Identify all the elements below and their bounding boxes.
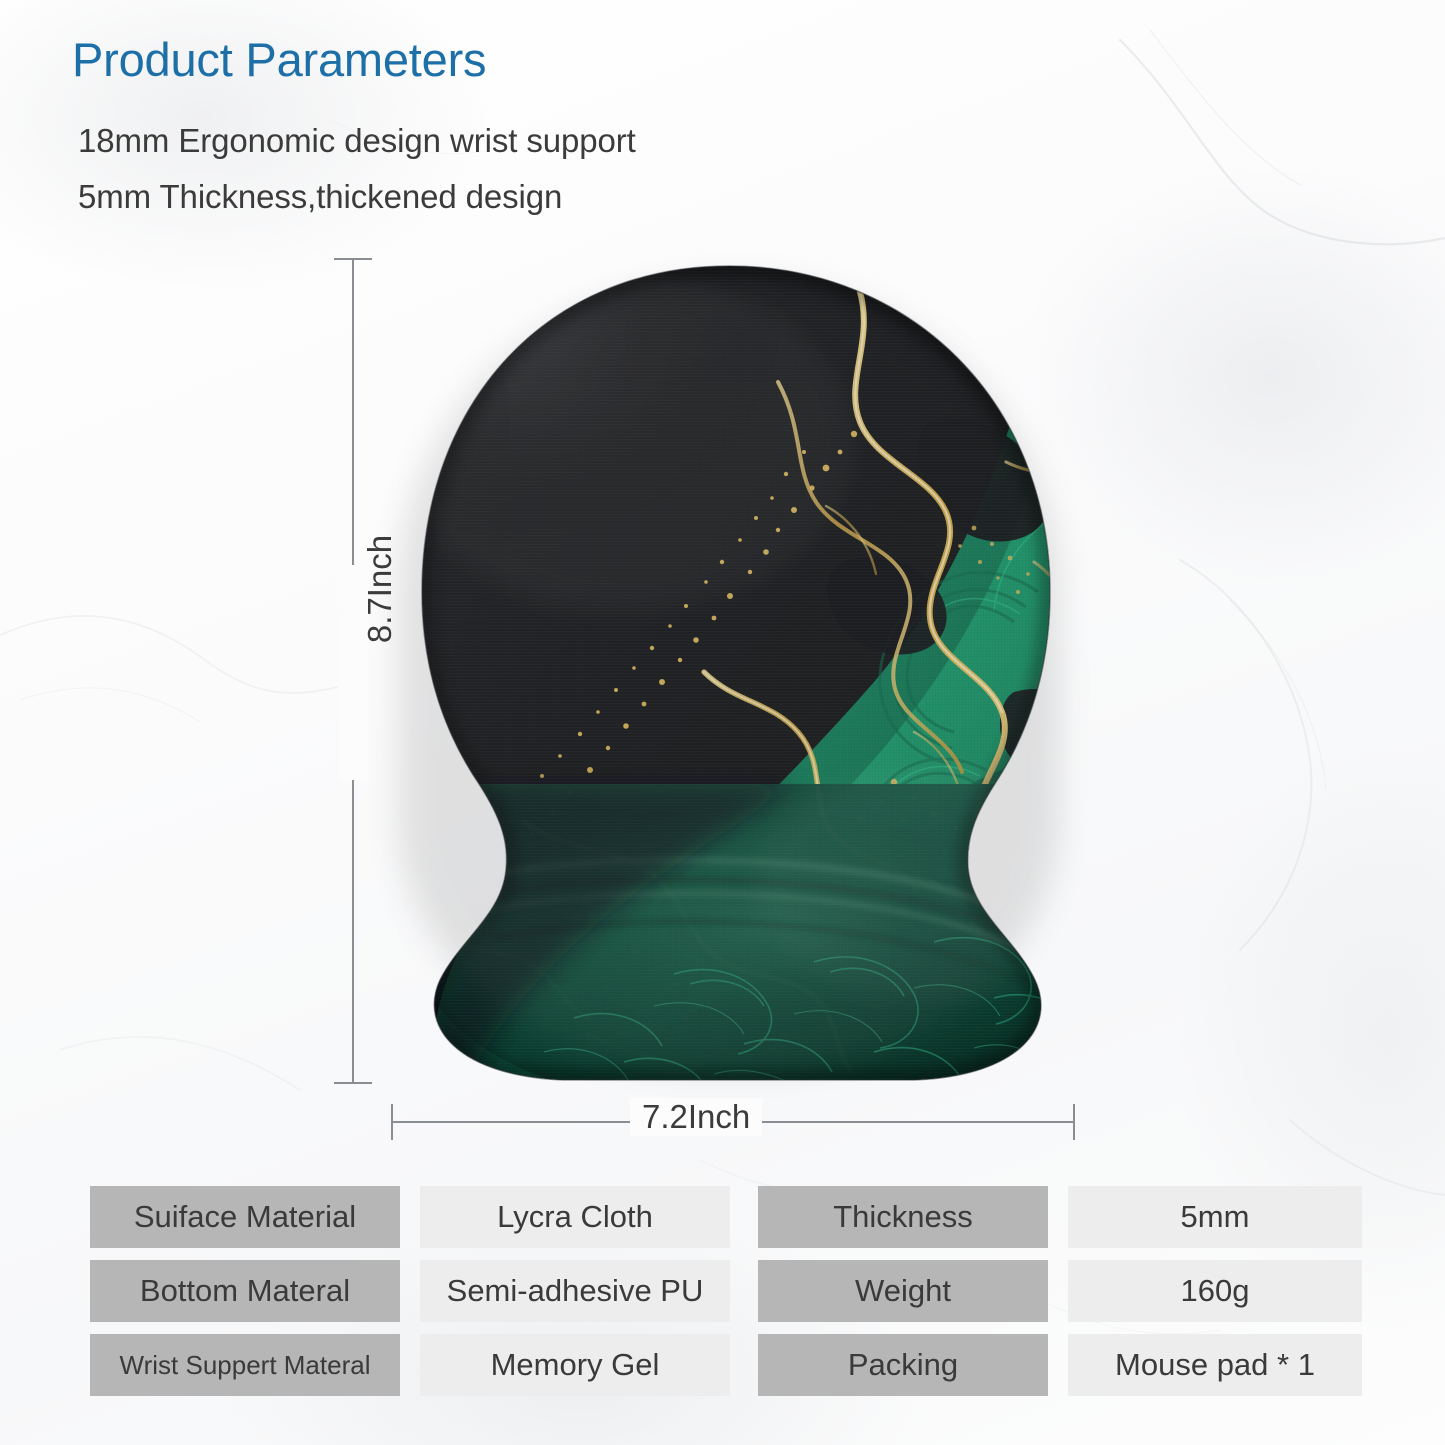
spec-key-bottom-material: Bottom Materal — [90, 1260, 400, 1322]
spec-key-thickness: Thickness — [758, 1186, 1048, 1248]
spec-key-surface-material: Suiface Material — [90, 1186, 400, 1248]
height-dimension-tick-bottom — [334, 1082, 372, 1084]
spec-value-weight: 160g — [1068, 1260, 1362, 1322]
width-dimension-label: 7.2Inch — [630, 1098, 762, 1136]
spec-value-surface-material: Lycra Cloth — [420, 1186, 730, 1248]
spec-table: Suiface Material Lycra Cloth Thickness 5… — [90, 1186, 1362, 1396]
feature-line-2: 5mm Thickness,thickened design — [78, 178, 562, 216]
spec-key-wrist-support-material: Wrist Suppert Materal — [90, 1334, 400, 1396]
spec-value-thickness: 5mm — [1068, 1186, 1362, 1248]
table-row: Suiface Material Lycra Cloth Thickness 5… — [90, 1186, 1362, 1248]
spec-value-bottom-material: Semi-adhesive PU — [420, 1260, 730, 1322]
table-row: Bottom Materal Semi-adhesive PU Weight 1… — [90, 1260, 1362, 1322]
width-dimension-tick-right — [1073, 1104, 1075, 1140]
page-title: Product Parameters — [72, 32, 486, 87]
spec-value-wrist-support-material: Memory Gel — [420, 1334, 730, 1396]
height-dimension-tick-top — [334, 258, 372, 260]
spec-value-packing: Mouse pad * 1 — [1068, 1334, 1362, 1396]
table-row: Wrist Suppert Materal Memory Gel Packing… — [90, 1334, 1362, 1396]
pad-drop-shadow — [374, 262, 1084, 1084]
width-dimension-tick-left — [391, 1104, 393, 1140]
feature-line-1: 18mm Ergonomic design wrist support — [78, 122, 636, 160]
spec-key-packing: Packing — [758, 1334, 1048, 1396]
spec-key-weight: Weight — [758, 1260, 1048, 1322]
product-infographic: Product Parameters 18mm Ergonomic design… — [0, 0, 1445, 1445]
height-dimension-label: 8.7Inch — [361, 509, 399, 669]
product-image — [374, 262, 1084, 1084]
